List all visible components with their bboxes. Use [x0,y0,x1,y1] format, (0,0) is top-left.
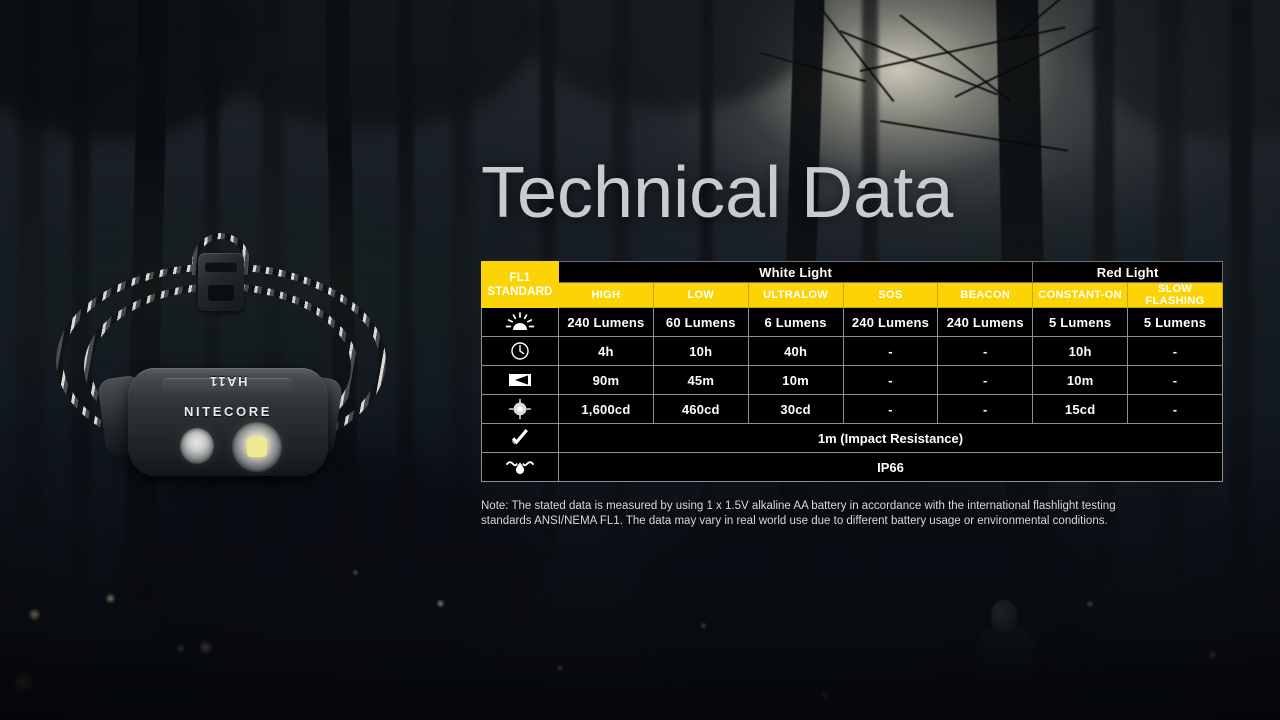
cell-peak-intensity-low: 460cd [653,395,748,424]
cell-beam-distance-high: 90m [559,366,654,395]
table-header-mode-row: HIGH LOW ULTRALOW SOS BEACON CONSTANT-ON… [482,283,1223,308]
cell-runtime-beacon: - [938,337,1033,366]
cell-brightness-high: 240 Lumens [559,308,654,337]
cell-peak-intensity-sos: - [843,395,938,424]
technical-data-slide: HA11 NITECORE Technical Data FL1 STANDAR… [0,0,1280,720]
cell-beam-distance-slow-flashing: - [1128,366,1223,395]
cell-beam-distance-ultralow: 10m [748,366,843,395]
table-row-runtime: 4h 10h 40h - - 10h - [482,337,1223,366]
product-brand-label: NITECORE [128,404,328,419]
product-headlamp-image: HA11 NITECORE [40,225,400,500]
product-model-label: HA11 [128,374,328,389]
runtime-clock-icon [482,337,559,366]
cell-beam-distance-beacon: - [938,366,1033,395]
cell-brightness-constant-on: 5 Lumens [1033,308,1128,337]
peak-beam-intensity-icon [482,395,559,424]
fl1-line2: STANDARD [482,285,558,299]
cell-peak-intensity-slow-flashing: - [1128,395,1223,424]
table-header-group-row: FL1 STANDARD White Light Red Light [482,262,1223,283]
group-header-white-light: White Light [559,262,1033,283]
cell-runtime-high: 4h [559,337,654,366]
brightness-icon [482,308,559,337]
lamp-housing: HA11 NITECORE [128,368,328,476]
cell-beam-distance-sos: - [843,366,938,395]
mode-header-low: LOW [653,283,748,308]
mode-header-sos: SOS [843,283,938,308]
cell-impact-resistance-value: 1m (Impact Resistance) [559,424,1223,453]
footnote-text: Note: The stated data is measured by usi… [481,499,1141,529]
cell-runtime-constant-on: 10h [1033,337,1128,366]
water-resistance-icon [482,453,559,482]
cell-beam-distance-low: 45m [653,366,748,395]
cell-runtime-sos: - [843,337,938,366]
cell-water-resistance-value: IP66 [559,453,1223,482]
mode-header-high: HIGH [559,283,654,308]
page-title: Technical Data [481,152,953,234]
table-row-beam-distance: 90m 45m 10m - - 10m - [482,366,1223,395]
auxiliary-led-reflector [180,428,214,464]
cell-beam-distance-constant-on: 10m [1033,366,1128,395]
fl1-line1: FL1 [482,271,558,285]
cell-brightness-low: 60 Lumens [653,308,748,337]
cell-brightness-beacon: 240 Lumens [938,308,1033,337]
cell-brightness-sos: 240 Lumens [843,308,938,337]
cell-brightness-slow-flashing: 5 Lumens [1128,308,1223,337]
mode-header-constant-on: CONSTANT-ON [1033,283,1128,308]
cell-peak-intensity-beacon: - [938,395,1033,424]
mode-header-slow-flashing: SLOW FLASHING [1128,283,1223,308]
beam-distance-icon [482,366,559,395]
cell-peak-intensity-ultralow: 30cd [748,395,843,424]
cell-peak-intensity-high: 1,600cd [559,395,654,424]
impact-resistance-icon [482,424,559,453]
cell-runtime-low: 10h [653,337,748,366]
mode-header-ultralow: ULTRALOW [748,283,843,308]
cell-brightness-ultralow: 6 Lumens [748,308,843,337]
strap-buckle [198,253,244,311]
table-row-water-resistance: IP66 [482,453,1223,482]
fl1-standard-header: FL1 STANDARD [482,262,559,308]
cell-runtime-ultralow: 40h [748,337,843,366]
table-row-peak-beam-intensity: 1,600cd 460cd 30cd - - 15cd - [482,395,1223,424]
group-header-red-light: Red Light [1033,262,1223,283]
table-row-brightness: 240 Lumens 60 Lumens 6 Lumens 240 Lumens… [482,308,1223,337]
technical-data-table: FL1 STANDARD White Light Red Light HIGH … [481,261,1223,482]
cell-peak-intensity-constant-on: 15cd [1033,395,1128,424]
table-row-impact-resistance: 1m (Impact Resistance) [482,424,1223,453]
main-led-reflector [232,422,282,472]
cell-runtime-slow-flashing: - [1128,337,1223,366]
mode-header-beacon: BEACON [938,283,1033,308]
